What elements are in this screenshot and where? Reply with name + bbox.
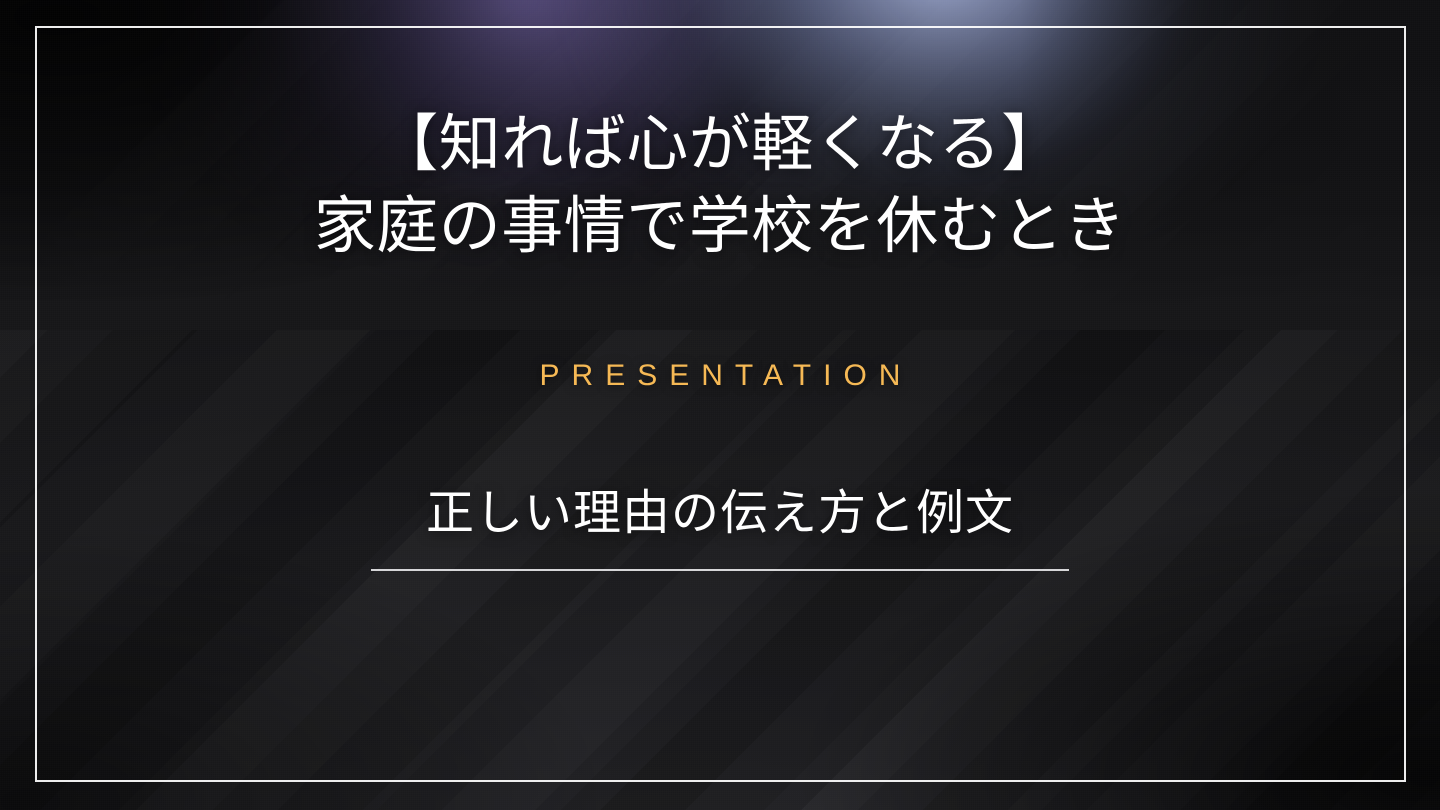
title-line-2: 家庭の事情で学校を休むとき <box>314 186 1127 268</box>
slide-content: 【知れば心が軽くなる】 家庭の事情で学校を休むとき PRESENTATION 正… <box>0 0 1440 810</box>
subtitle-divider <box>371 569 1069 571</box>
title-line-1: 【知れば心が軽くなる】 <box>314 104 1127 186</box>
slide-title: 【知れば心が軽くなる】 家庭の事情で学校を休むとき <box>314 104 1127 269</box>
slide-subtitle-block: 正しい理由の伝え方と例文 <box>371 485 1069 572</box>
presentation-slide: 【知れば心が軽くなる】 家庭の事情で学校を休むとき PRESENTATION 正… <box>0 0 1440 810</box>
slide-subtitle: 正しい理由の伝え方と例文 <box>426 485 1014 544</box>
presentation-eyebrow-label: PRESENTATION <box>528 359 913 393</box>
